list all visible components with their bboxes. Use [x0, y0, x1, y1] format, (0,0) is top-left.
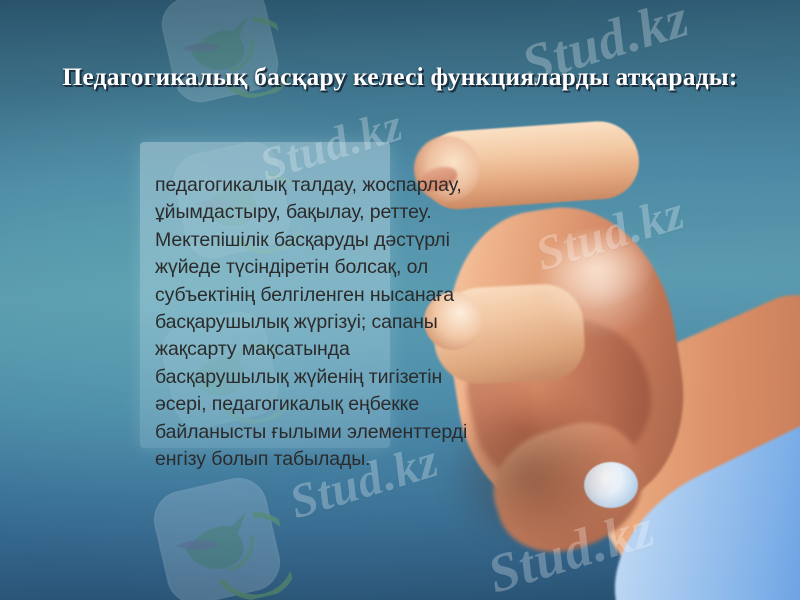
body-line: ұйымдастыру, бақылау, реттеу.: [155, 199, 495, 226]
body-line: басқарушылық жүргізуі; сапаны: [155, 309, 495, 336]
body-line: басқарушылық жүйенің тигізетін: [155, 364, 495, 391]
slide-body-text: педагогикалық талдау, жоспарлау, ұйымдас…: [155, 172, 495, 473]
presentation-slide: Stud.kz Stud.kz Stud.kz Stud.kz Stud.kz …: [0, 0, 800, 600]
body-line: Мектепішілік басқаруды дәстүрлі: [155, 227, 495, 254]
slide-title: Педагогикалық басқару келесі функциялард…: [0, 62, 800, 92]
body-line: енгізу болып табылады.: [155, 446, 495, 473]
body-line: әсері, педагогикалық еңбекке: [155, 391, 495, 418]
skin-highlight: [540, 230, 660, 340]
body-line: субъектінің белгіленген нысанаға: [155, 282, 495, 309]
body-line: байланысты ғылыми элементтерді: [155, 419, 495, 446]
body-line: жақсарту мақсатында: [155, 336, 495, 363]
body-line: жүйеде түсіндіретін болсақ, ол: [155, 254, 495, 281]
body-line: педагогикалық талдау, жоспарлау,: [155, 172, 495, 199]
